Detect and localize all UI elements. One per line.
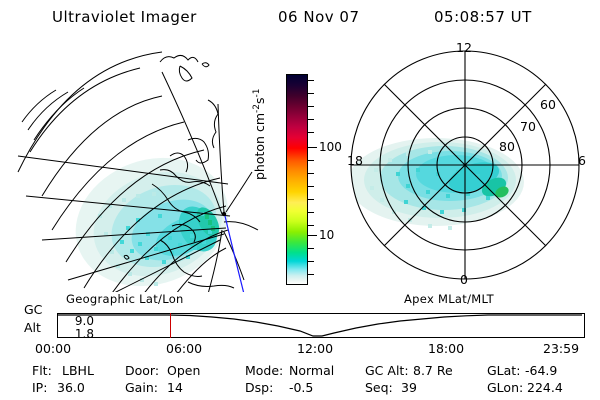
status-gain-label: Gain:: [125, 380, 158, 395]
mlt-label-6: 6: [578, 153, 586, 168]
colorbar-gradient: [286, 74, 308, 285]
mlt-panel-caption: Apex MLat/MLT: [404, 292, 494, 306]
strip-yaxis-name-line1: GC: [24, 302, 42, 317]
ultraviolet-imager-window: Ultraviolet Imager 06 Nov 07 05:08:57 UT: [0, 0, 600, 400]
limb-arcs: [22, 88, 84, 140]
status-row-1: Flt: LBHL Door: Open Mode: Normal GC Alt…: [0, 363, 600, 380]
strip-xtick-0600: 06:00: [166, 341, 202, 356]
strip-xtick-1800: 18:00: [428, 341, 464, 356]
strip-ytick-top: 9.0: [62, 314, 94, 328]
mlt-spokes: [351, 51, 579, 279]
mlt-label-0: 0: [460, 272, 468, 287]
status-dsp-label: Dsp:: [245, 380, 273, 395]
status-ip-label: IP:: [32, 380, 47, 395]
status-door-label: Door:: [125, 363, 159, 378]
status-glat-label: GLat:: [487, 363, 520, 378]
observation-time: 05:08:57 UT: [434, 8, 532, 26]
status-gcalt-value: 8.7 Re: [413, 363, 453, 378]
colorbar-tick-label-100: 100: [319, 140, 342, 154]
status-mode-value: Normal: [289, 363, 334, 378]
geographic-map-svg: [12, 44, 264, 292]
colorbar-tick-label-10: 10: [319, 228, 334, 242]
status-glat-value: -64.9: [525, 363, 557, 378]
status-gain-value: 14: [167, 380, 183, 395]
terminator-line: [225, 216, 244, 292]
strip-yaxis-name-line2: Alt: [24, 320, 41, 335]
altitude-trace-svg: [58, 314, 584, 337]
observation-date: 06 Nov 07: [278, 8, 360, 26]
colorbar-axis-label: photon cm-2s-1: [252, 89, 267, 180]
mlt-label-12: 12: [456, 40, 472, 55]
strip-ytick-bottom: 1.8: [62, 327, 94, 341]
altitude-strip-chart: [57, 313, 585, 338]
mlt-dial-panel: 12 18 6 0 60 70 80: [344, 44, 588, 292]
mlt-label-18: 18: [347, 153, 363, 168]
status-glon-value: 224.4: [527, 380, 563, 395]
status-gcalt-label: GC Alt:: [365, 363, 409, 378]
geographic-panel-caption: Geographic Lat/Lon: [66, 292, 184, 306]
status-flt-label: Flt:: [32, 363, 52, 378]
subsatellite-point: [222, 212, 226, 216]
page-title: Ultraviolet Imager: [52, 8, 197, 26]
altitude-trace: [58, 315, 582, 336]
mlt-dial-svg: [344, 44, 588, 292]
status-ip-value: 36.0: [57, 380, 85, 395]
status-mode-label: Mode:: [245, 363, 283, 378]
status-seq-label: Seq:: [365, 380, 393, 395]
strip-xtick-2359: 23:59: [543, 341, 579, 356]
status-glon-label: GLon:: [487, 380, 523, 395]
current-time-marker: [170, 313, 171, 338]
mlat-label-70: 70: [520, 119, 536, 134]
strip-xtick-1200: 12:00: [297, 341, 333, 356]
mlat-label-60: 60: [540, 97, 556, 112]
mlat-label-80: 80: [499, 139, 515, 154]
status-door-value: Open: [167, 363, 200, 378]
geographic-map-panel: [12, 44, 264, 292]
aurora-oval-layer: [348, 138, 524, 230]
status-row-2: IP: 36.0 Gain: 14 Dsp: -0.5 Seq: 39 GLon…: [0, 380, 600, 397]
status-flt-value: LBHL: [62, 363, 94, 378]
status-seq-value: 39: [401, 380, 417, 395]
strip-xtick-0000: 00:00: [35, 341, 71, 356]
colorbar: [286, 74, 308, 285]
status-dsp-value: -0.5: [281, 380, 313, 395]
